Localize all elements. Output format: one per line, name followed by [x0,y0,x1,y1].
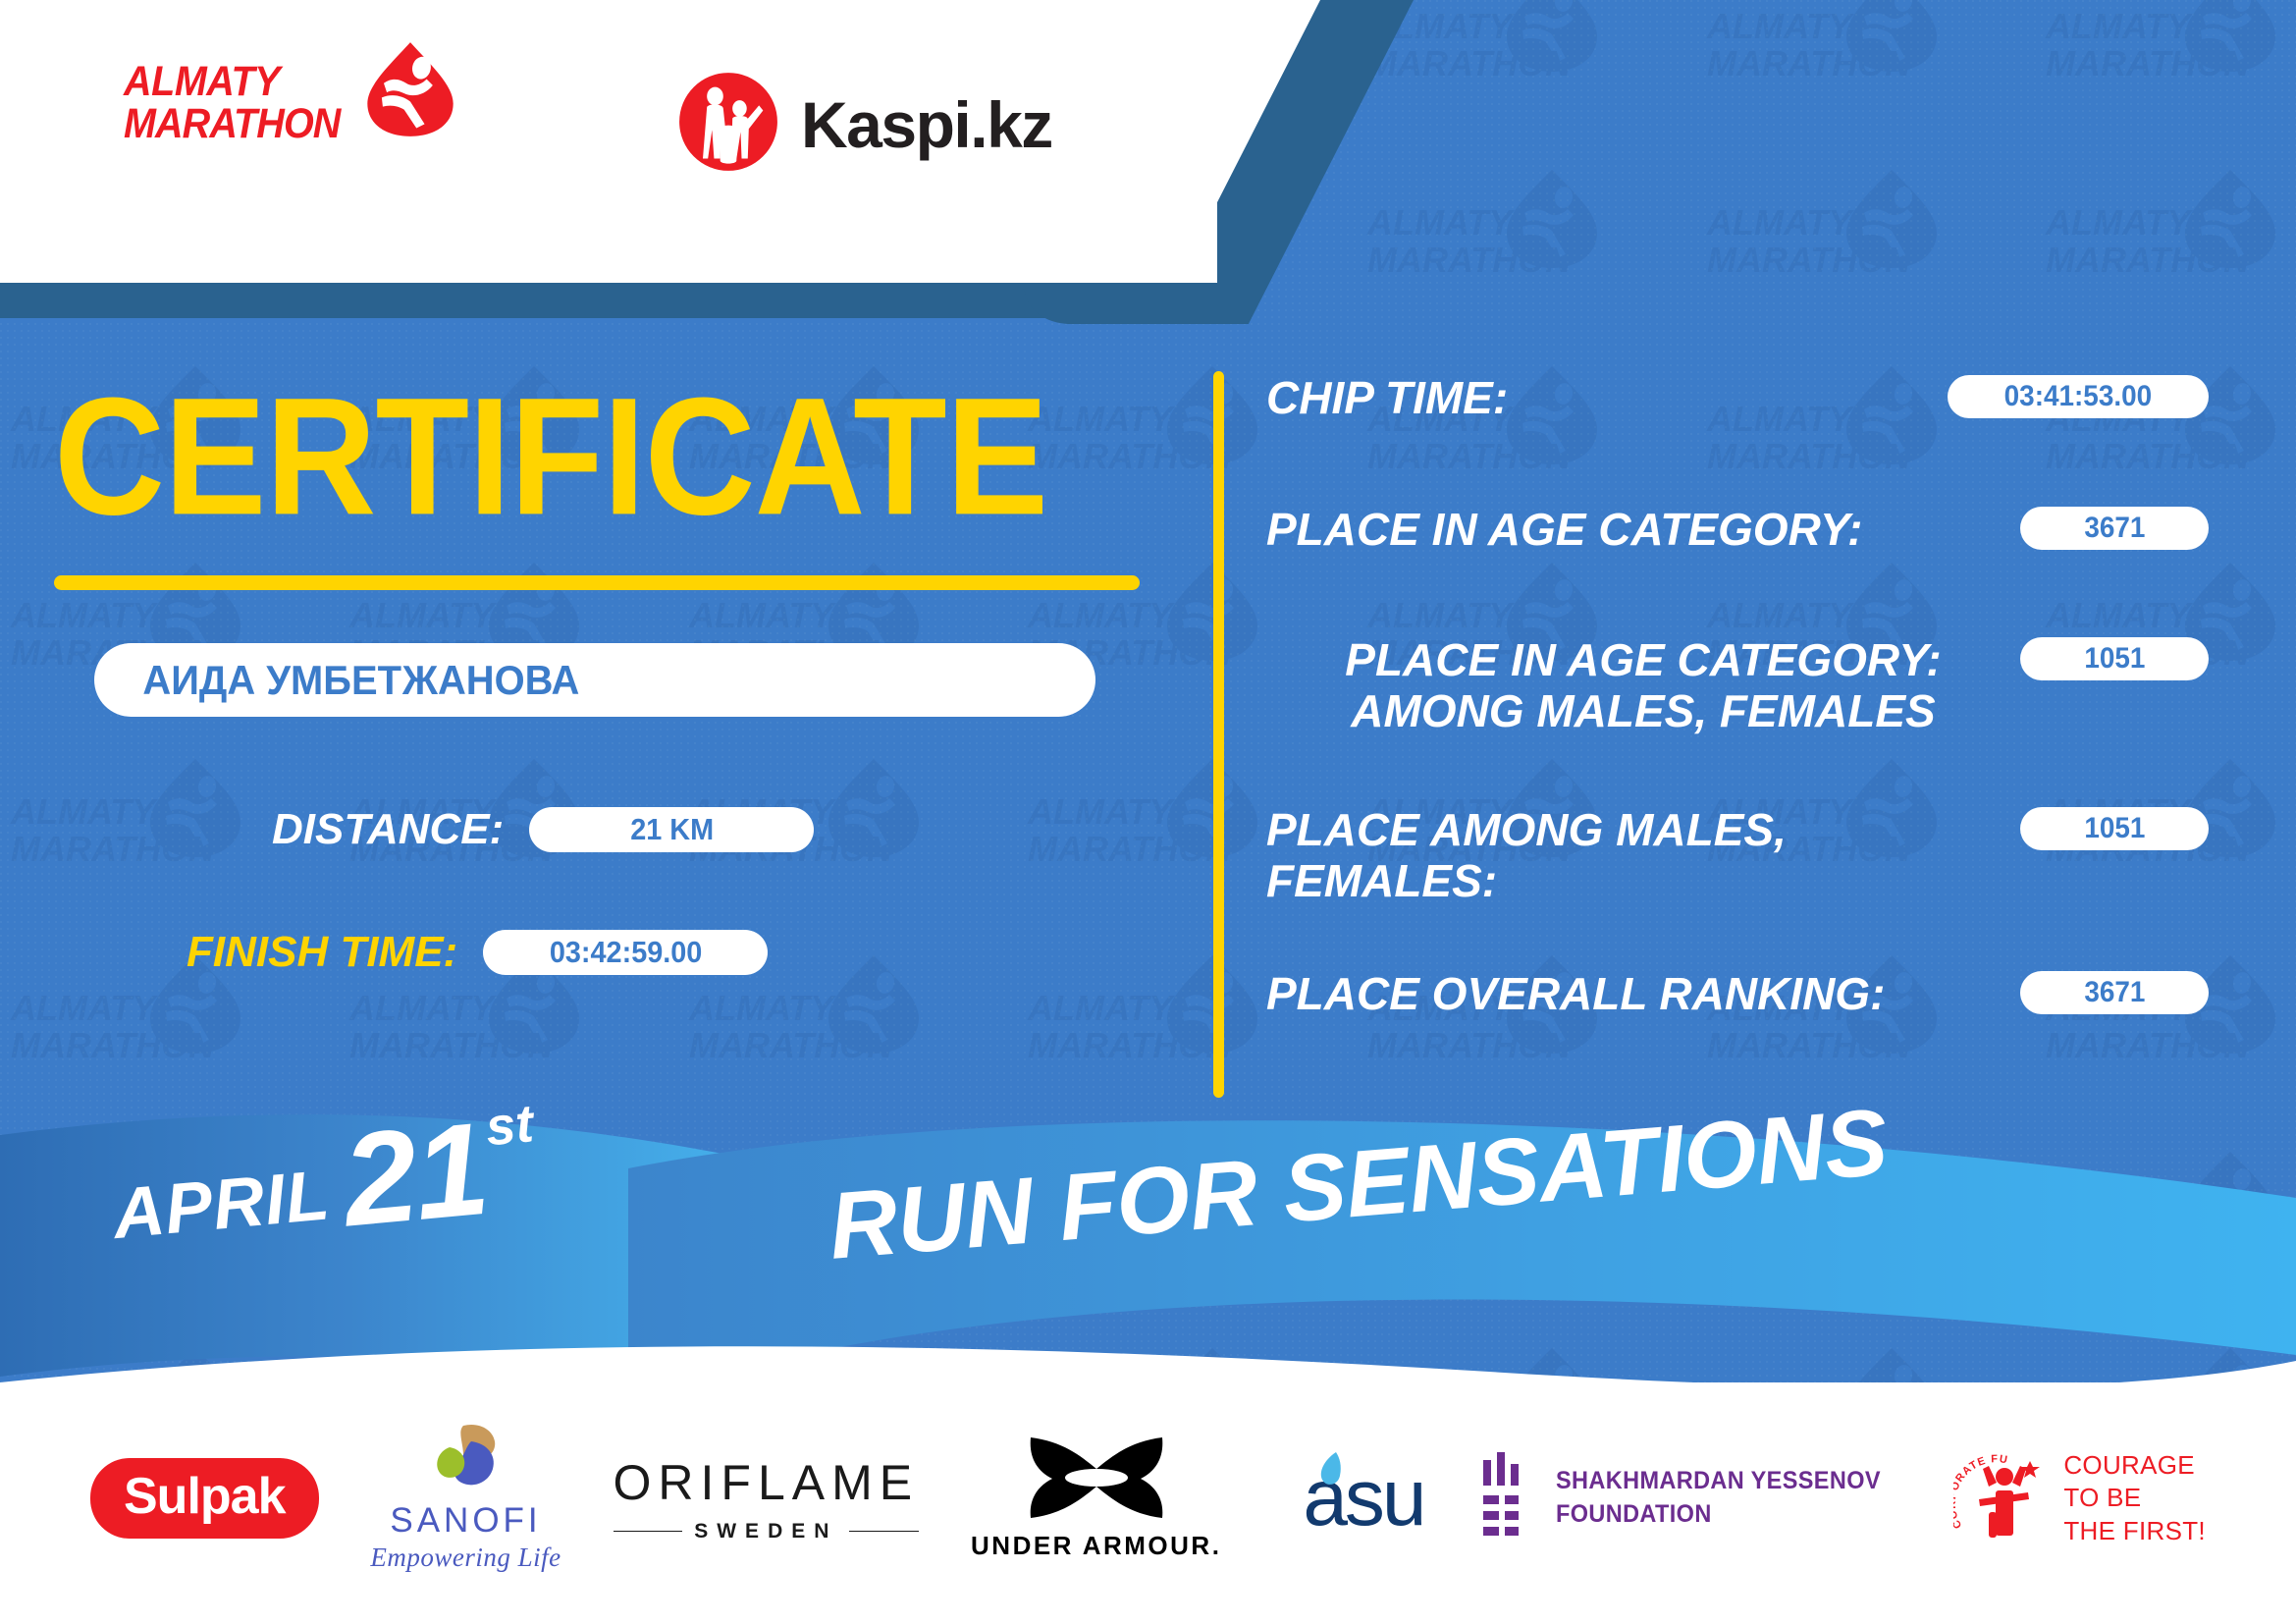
svg-text:ALMATY: ALMATY [688,988,836,1028]
svg-text:MARATHON: MARATHON [1367,1025,1572,1065]
svg-text:ALMATY: ALMATY [1366,202,1515,243]
finish-time-row: FINISH TIME: 03:42:59.00 [187,928,768,977]
svg-text:ALMATY: ALMATY [1706,202,1854,243]
oriflame-rule-left [614,1531,683,1533]
svg-text:MARATHON: MARATHON [2046,1221,2250,1262]
participant-name-field: АИДА УМБЕТЖАНОВА [94,643,1095,717]
chip-time-value-pill: 03:41:53.00 [1948,375,2209,418]
svg-text:ALMATY: ALMATY [1706,6,1854,46]
place-overall-value: 3671 [2084,976,2145,1009]
result-row-place-overall: PLACE OVERALL RANKING: 3671 [1266,967,2209,1020]
courage-line3: THE FIRST! [2063,1516,2206,1545]
svg-text:ALMATY: ALMATY [1027,595,1175,635]
result-row-place-among-gender: PLACE AMONG MALES, FEMALES: 1051 [1266,803,2209,906]
title-underline [54,575,1140,590]
watermark-tile: ALMATY MARATHON [1657,0,1997,137]
svg-text:MARATHON: MARATHON [1028,436,1232,476]
place-overall-label: PLACE OVERALL RANKING: [1266,967,2020,1020]
svg-text:MARATHON: MARATHON [1367,240,1572,280]
svg-text:ALMATY: ALMATY [688,1184,836,1224]
courage-line1: COURAGE [2063,1450,2195,1480]
almaty-wordmark-line1: ALMATY [124,61,340,103]
svg-text:ALMATY: ALMATY [1027,399,1175,439]
sponsor-under-armour: UNDER ARMOUR. [971,1435,1221,1561]
courage-wordmark: COURAGE TO BE THE FIRST! [2063,1449,2206,1547]
oriflame-sub-row: SWEDEN [614,1520,920,1543]
sanofi-name: SANOFI [390,1501,541,1541]
oriflame-name: ORIFLAME [614,1454,920,1511]
almaty-wordmark-line2: MARATHON [124,103,340,145]
event-month: APRIL [110,1155,334,1255]
svg-text:MARATHON: MARATHON [689,1025,893,1065]
kaspi-people-circle-icon [677,71,779,178]
place-age-category-gender-label: PLACE IN AGE CATEGORY: AMONG MALES, FEMA… [1266,633,2020,736]
kaspi-wordmark: Kaspi.kz [801,87,1052,162]
asu-drop-icon [1273,1476,1303,1520]
place-age-category-gender-value-pill: 1051 [2020,637,2209,680]
under-armour-icon [1023,1435,1170,1525]
result-row-place-age-category: PLACE IN AGE CATEGORY: 3671 [1266,503,2209,556]
place-among-gender-value-pill: 1051 [2020,807,2209,850]
event-day: 21 [339,1110,491,1241]
almaty-marathon-logo: ALMATY MARATHON [124,61,461,145]
distance-label: DISTANCE: [272,805,504,854]
courage-figure-icon: CORPORATE FUND [1953,1447,2048,1550]
column-divider [1213,371,1224,1098]
svg-text:MARATHON: MARATHON [11,829,215,869]
svg-text:MARATHON: MARATHON [1028,829,1232,869]
sponsor-sanofi: SANOFI Empowering Life [370,1424,561,1573]
svg-text:MARATHON: MARATHON [1367,43,1572,83]
sanofi-tagline: Empowering Life [370,1543,561,1573]
svg-text:MARATHON: MARATHON [1707,240,1911,280]
place-among-gender-label: PLACE AMONG MALES, FEMALES: [1266,803,1875,906]
page-title: CERTIFICATE [54,373,1047,540]
watermark-tile: ALMATY MARATHON [1317,137,1657,334]
watermark-tile: ALMATY MARATHON [1657,1316,1997,1382]
results-list: CHIP TIME: 03:41:53.00 PLACE IN AGE CATE… [1266,371,2209,1020]
svg-text:ALMATY: ALMATY [10,595,158,635]
watermark-tile: ALMATY MARATHON [1996,1316,2296,1382]
svg-text:MARATHON: MARATHON [2046,1025,2250,1065]
svg-text:ALMATY: ALMATY [1027,988,1175,1028]
place-age-category-label: PLACE IN AGE CATEGORY: [1266,503,2020,556]
sponsor-courage-to-be-the-first: CORPORATE FUND COURAGE TO BE THE FIRST! [1953,1447,2206,1550]
sponsor-sulpak: Sulpak [90,1458,319,1539]
svg-text:MARATHON: MARATHON [2046,43,2250,83]
watermark-tile: ALMATY MARATHON [1996,137,2296,334]
svg-text:ALMATY: ALMATY [10,988,158,1028]
oriflame-rule-right [849,1531,919,1533]
sponsor-oriflame: ORIFLAME SWEDEN [614,1454,920,1543]
sponsor-yessenov-foundation: SHAKHMARDAN YESSENOV FOUNDATION [1475,1452,1901,1545]
distance-row: DISTANCE: 21 KM [272,805,814,854]
finish-time-value: 03:42:59.00 [549,935,701,970]
watermark-tile: ALMATY MARATHON [639,1316,979,1382]
place-age-category-value-pill: 3671 [2020,507,2209,550]
svg-text:ALMATY: ALMATY [2045,1184,2193,1224]
sanofi-mark-icon [428,1424,505,1499]
watermark-tile: ALMATY MARATHON [300,1316,640,1382]
finish-time-label: FINISH TIME: [187,928,457,977]
place-among-gender-value: 1051 [2084,812,2145,845]
under-armour-wordmark: UNDER ARMOUR. [971,1531,1221,1561]
svg-text:MARATHON: MARATHON [11,1025,215,1065]
svg-text:ALMATY: ALMATY [348,595,497,635]
svg-text:ALMATY: ALMATY [688,595,836,635]
chip-time-label: CHIP TIME: [1266,371,1948,424]
oriflame-sub: SWEDEN [694,1520,837,1543]
runner-drop-icon [365,62,461,145]
svg-text:ALMATY: ALMATY [2045,202,2193,243]
sponsor-asu: asu [1273,1462,1423,1535]
sponsor-bar: Sulpak SANOFI Empowering Life ORIFLAME S… [0,1382,2296,1624]
watermark-tile: ALMATY MARATHON [979,1316,1318,1382]
finish-time-value-pill: 03:42:59.00 [483,930,768,975]
watermark-tile: ALMATY MARATHON [1996,1119,2296,1316]
chip-time-value: 03:41:53.00 [2004,380,2152,413]
sulpak-wordmark: Sulpak [90,1458,319,1539]
watermark-tile: ALMATY MARATHON [1317,1316,1657,1382]
distance-value: 21 KM [630,812,714,847]
svg-text:ALMATY: ALMATY [348,988,497,1028]
kaspi-logo: Kaspi.kz [677,71,1052,178]
watermark-tile: ALMATY MARATHON [0,1316,300,1382]
svg-text:MARATHON: MARATHON [1028,1025,1232,1065]
watermark-tile: ALMATY MARATHON [1657,137,1997,334]
watermark-tile: ALMATY MARATHON [1996,0,2296,137]
almaty-marathon-wordmark: ALMATY MARATHON [124,61,340,145]
place-age-category-value: 3671 [2084,512,2145,545]
svg-text:MARATHON: MARATHON [349,1025,554,1065]
yessenov-mark-icon [1475,1452,1534,1545]
result-row-chip-time: CHIP TIME: 03:41:53.00 [1266,371,2209,424]
svg-text:MARATHON: MARATHON [1707,43,1911,83]
svg-text:MARATHON: MARATHON [1707,1221,1911,1262]
svg-text:ALMATY: ALMATY [1027,791,1175,832]
svg-text:MARATHON: MARATHON [1707,1025,1911,1065]
yessenov-line2: FOUNDATION [1556,1500,1712,1528]
svg-text:ALMATY: ALMATY [2045,6,2193,46]
participant-name-value: АИДА УМБЕТЖАНОВА [94,657,579,704]
result-row-place-age-category-gender: PLACE IN AGE CATEGORY: AMONG MALES, FEMA… [1266,633,2209,736]
courage-line2: TO BE [2063,1483,2141,1512]
place-overall-value-pill: 3671 [2020,971,2209,1014]
yessenov-line1: SHAKHMARDAN YESSENOV [1556,1467,1881,1494]
place-age-category-gender-value: 1051 [2084,642,2145,676]
svg-text:ALMATY: ALMATY [10,791,158,832]
yessenov-wordmark: SHAKHMARDAN YESSENOV FOUNDATION [1556,1465,1881,1532]
certificate-page: ALMATY MARATHON ALMATY MARATHON [0,0,2296,1624]
distance-value-pill: 21 KM [529,807,814,852]
watermark-tile: ALMATY MARATHON [0,727,300,923]
event-day-ordinal: st [483,1093,535,1158]
svg-text:MARATHON: MARATHON [2046,240,2250,280]
